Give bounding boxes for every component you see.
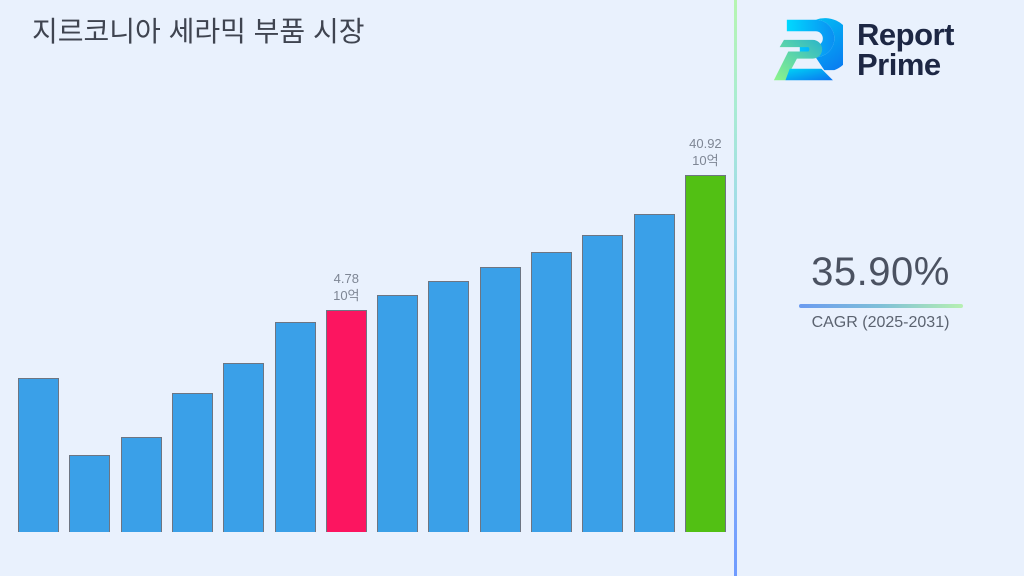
bar-rect-2023 [275,322,316,532]
bar-chart-plot-area: 4.7810억40.9210억 201820192020202120222023… [0,110,735,533]
bar-value-number-2031: 40.92 [689,135,722,152]
bar-rect-2020 [121,437,162,532]
bar-2018 [18,378,59,532]
bar-value-label-2024: 4.7810억 [333,270,359,304]
report-prime-logo-mark [771,14,843,86]
bar-2021 [172,393,213,532]
bar-rect-2025 [377,295,418,532]
bar-2026 [428,281,469,532]
bar-2020 [121,437,162,532]
brand-wordmark-line1: Report [857,20,954,50]
chart-panel: 지르코니아 세라믹 부품 시장 4.7810억40.9210억 20182019… [0,0,735,576]
bar-rect-2031 [685,175,726,532]
bar-2027 [480,267,521,532]
bar-2019 [69,455,110,532]
bar-value-label-2031: 40.9210억 [689,135,722,169]
brand-panel: Report Prime 35.90% CAGR (2025-2031) [737,0,1024,576]
bar-rect-2027 [480,267,521,532]
cagr-divider-rule [799,304,963,308]
bar-rect-2019 [69,455,110,532]
bar-2023 [275,322,316,532]
bar-rect-2030 [634,214,675,532]
bar-rect-2018 [18,378,59,532]
brand-wordmark: Report Prime [857,20,954,80]
bar-2024: 4.7810억 [326,310,367,532]
cagr-value: 35.90% [737,248,1024,296]
bar-2028 [531,252,572,532]
bar-rect-2024 [326,310,367,532]
bar-value-unit-2031: 10억 [689,152,722,169]
bar-rect-2026 [428,281,469,532]
cagr-block: 35.90% CAGR (2025-2031) [737,248,1024,332]
bar-rect-2021 [172,393,213,532]
cagr-caption: CAGR (2025-2031) [737,314,1024,332]
bar-rect-2028 [531,252,572,532]
brand-logo: Report Prime [771,14,954,86]
bar-2029 [582,235,623,532]
bar-2022 [223,363,264,532]
bar-rect-2022 [223,363,264,532]
bar-2030 [634,214,675,532]
screenshot-root: 지르코니아 세라믹 부품 시장 4.7810억40.9210억 20182019… [0,0,1024,576]
bar-2031: 40.9210억 [685,175,726,532]
bar-2025 [377,295,418,532]
bar-rect-2029 [582,235,623,532]
page-title: 지르코니아 세라믹 부품 시장 [32,10,364,50]
bar-value-unit-2024: 10억 [333,287,359,304]
bar-value-number-2024: 4.78 [333,270,359,287]
brand-wordmark-line2: Prime [857,50,954,80]
